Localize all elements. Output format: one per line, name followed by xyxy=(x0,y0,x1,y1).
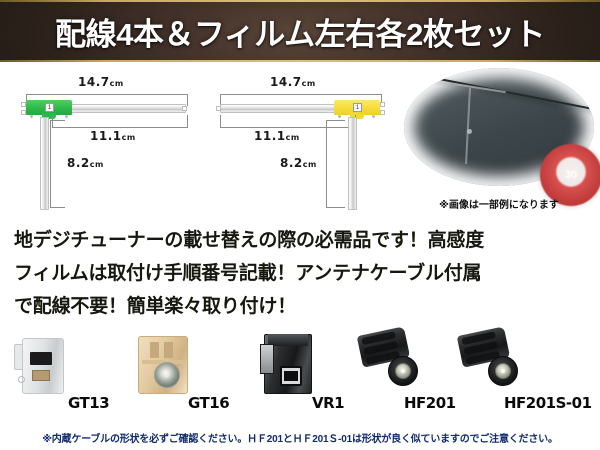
gt13-nub xyxy=(18,376,25,383)
connector-hf201s-01: HF201S-01 xyxy=(452,328,572,424)
dimension-label-top-left: 14.7cm xyxy=(78,75,124,89)
antenna-pad-number-right: 1 xyxy=(353,103,362,112)
product-banner: 配線4本＆フィルム左右各2枚セット 14.7cm 1 xyxy=(0,0,600,450)
gt16-slot-2 xyxy=(164,342,173,358)
connector-label-gt16: GT16 xyxy=(188,394,250,412)
film-diagram-left: 14.7cm 1 11.1cm xyxy=(8,62,208,212)
antenna-pad-dot1-left xyxy=(30,115,33,118)
antenna-vertical-element-left xyxy=(40,117,49,210)
vr1-connector-icon xyxy=(258,330,320,396)
hf201-center-pin xyxy=(401,369,405,373)
dimension-label-middle-right: 11.1cm xyxy=(254,129,300,143)
antenna-tip-left xyxy=(182,106,187,111)
gt16-connector-icon xyxy=(134,330,196,396)
antenna-vertical-element-right xyxy=(348,117,357,210)
dimension-bracket-middle-left xyxy=(52,115,188,128)
gt13-port xyxy=(30,352,52,365)
film-diagram-right: 14.7cm 1 11.1cm xyxy=(208,62,408,212)
antenna-tip-right xyxy=(216,106,221,111)
dimension-bracket-vertical-left xyxy=(50,120,65,208)
photo-caption: ※画像は一部例になります xyxy=(404,196,594,211)
connector-label-hf201s-01: HF201S-01 xyxy=(504,394,566,412)
footer-note-bar: ※内蔵ケーブルの形状を必ずご確認ください。ＨＦ201とＨＦ201Ｓ-01は形状が… xyxy=(0,424,600,450)
dimension-label-middle-left: 11.1cm xyxy=(90,129,136,143)
footer-note: ※内蔵ケーブルの形状を必ずご確認ください。ＨＦ201とＨＦ201Ｓ-01は形状が… xyxy=(42,430,558,445)
connector-type-row: GT13 GT16 VR1 xyxy=(0,328,600,424)
antenna-pad-number-left: 1 xyxy=(45,103,54,112)
connector-gt13: GT13 xyxy=(8,328,128,424)
connector-label-gt13: GT13 xyxy=(68,394,130,412)
installed-film-node xyxy=(467,129,472,134)
installed-film-vertical xyxy=(465,88,471,164)
vr1-top-shell xyxy=(268,334,308,346)
vr1-port-inner xyxy=(284,371,298,381)
vr1-clip xyxy=(260,344,274,374)
antenna-pad-dot2-right xyxy=(372,115,375,118)
product-description: 地デジチューナーの載せ替えの際の必需品です！高感度 フィルムは取付け手順番号記載… xyxy=(0,222,600,327)
description-line-3: で配線不要！簡単楽々取り付け！ xyxy=(14,290,586,323)
connector-gt16: GT16 xyxy=(128,328,248,424)
dimension-label-top-right: 14.7cm xyxy=(270,75,316,89)
installation-photo: 30 xyxy=(404,68,594,188)
banner-header: 配線4本＆フィルム左右各2枚セット xyxy=(0,0,600,62)
gt16-center-pin xyxy=(165,373,169,377)
gt13-secondary-port xyxy=(32,370,50,381)
description-line-2: フィルムは取付け手順番号記載！アンテナケーブル付属 xyxy=(14,257,586,290)
dimension-label-vertical-right: 8.2cm xyxy=(280,156,317,170)
hf201s-connector-icon xyxy=(458,330,520,396)
gt16-slot-1 xyxy=(150,342,159,358)
antenna-end2-right xyxy=(380,110,385,115)
dimension-bracket-vertical-right xyxy=(326,120,345,208)
hf201-connector-icon xyxy=(358,330,420,396)
description-line-1: 地デジチューナーの載せ替えの際の必需品です！高感度 xyxy=(14,224,586,257)
antenna-end-right xyxy=(380,102,385,107)
gt13-body xyxy=(22,338,64,394)
hf201s-center-pin xyxy=(501,369,505,373)
page-title: 配線4本＆フィルム左右各2枚セット xyxy=(0,0,600,62)
gt13-connector-icon xyxy=(14,330,76,396)
installed-film-horizontal xyxy=(454,83,507,93)
dimension-label-vertical-left: 8.2cm xyxy=(67,156,104,170)
